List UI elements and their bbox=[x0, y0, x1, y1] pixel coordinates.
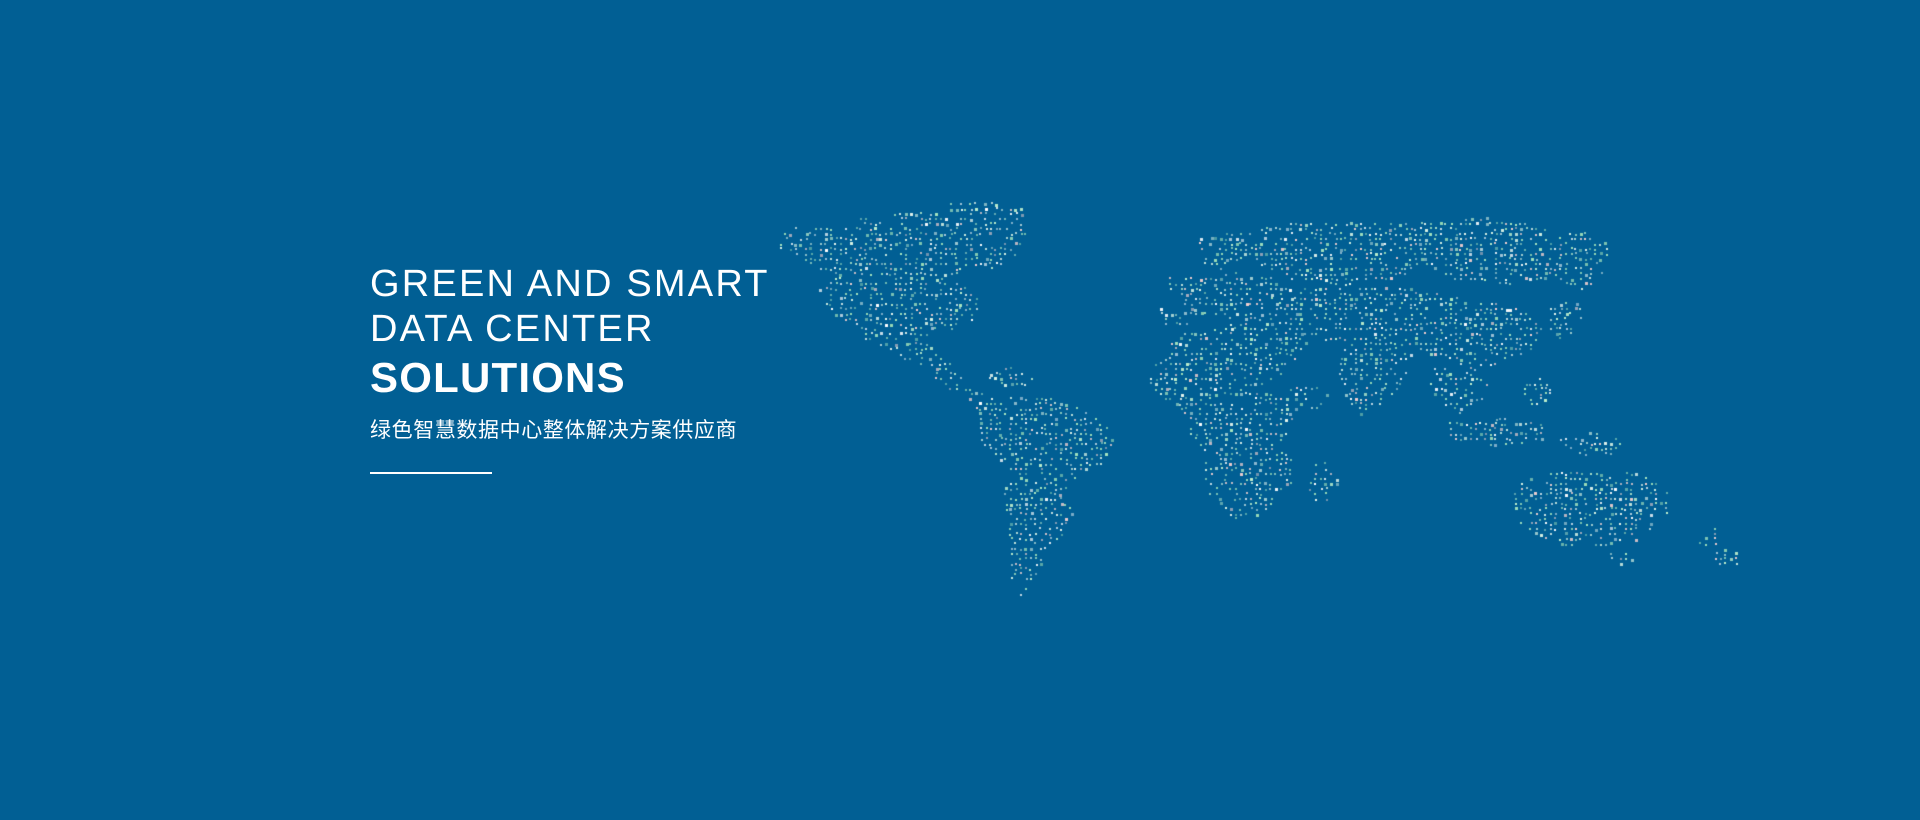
hero-banner: GREEN AND SMART DATA CENTER SOLUTIONS 绿色… bbox=[0, 0, 1920, 820]
headline-line-3: SOLUTIONS bbox=[370, 353, 1130, 402]
headline-line-2: DATA CENTER bbox=[370, 307, 1130, 352]
headline-line-1: GREEN AND SMART bbox=[370, 262, 1130, 307]
accent-rule bbox=[370, 472, 492, 474]
hero-text-block: GREEN AND SMART DATA CENTER SOLUTIONS 绿色… bbox=[370, 262, 1130, 474]
hero-subtitle-chinese: 绿色智慧数据中心整体解决方案供应商 bbox=[370, 416, 1130, 446]
